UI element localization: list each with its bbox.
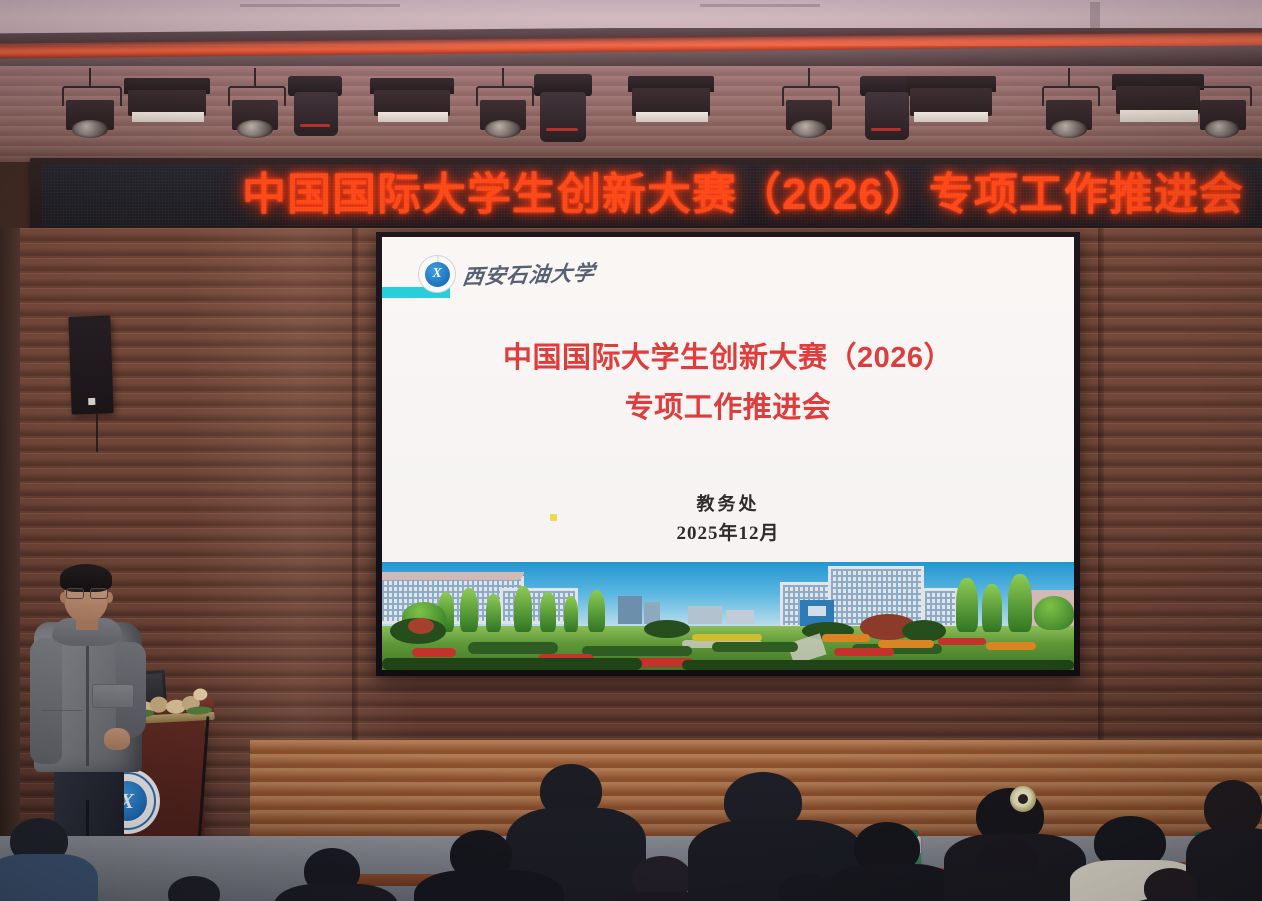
hair-scrunchie bbox=[1010, 786, 1036, 812]
slide-organization: 教务处 bbox=[382, 489, 1074, 519]
led-display-panel: 中国国际大学生创新大赛（2026）专项工作推进会 bbox=[42, 164, 1262, 226]
presentation-slide: X 西安石油大学 中国国际大学生创新大赛（2026） 专项工作推进会 教务处 2… bbox=[382, 237, 1074, 670]
eyeglasses-icon bbox=[66, 588, 108, 597]
university-name-text: 西安石油大学 bbox=[461, 257, 597, 292]
wall-speaker bbox=[68, 315, 113, 414]
slide-title: 中国国际大学生创新大赛（2026） 专项工作推进会 bbox=[382, 333, 1074, 433]
led-banner-text: 中国国际大学生创新大赛（2026）专项工作推进会 bbox=[242, 166, 1244, 224]
slide-title-line-2: 专项工作推进会 bbox=[382, 383, 1074, 433]
slide-cursor-dot bbox=[550, 514, 557, 521]
jacket-zipper bbox=[86, 640, 89, 766]
campus-panorama-photo bbox=[382, 562, 1074, 670]
university-emblem-icon: X bbox=[418, 255, 456, 293]
projection-screen: X 西安石油大学 中国国际大学生创新大赛（2026） 专项工作推进会 教务处 2… bbox=[382, 237, 1074, 670]
slide-university-logo: X 西安石油大学 bbox=[418, 255, 595, 293]
presenter-left-arm bbox=[30, 638, 62, 764]
wall-pillar-left bbox=[0, 228, 20, 848]
speaker-brand-logo bbox=[88, 398, 95, 405]
conference-hall-photo: 中国国际大学生创新大赛（2026）专项工作推进会 X 西安石油大学 中国国际大学… bbox=[0, 0, 1262, 901]
presenter-hand bbox=[104, 728, 130, 750]
led-banner-frame: 中国国际大学生创新大赛（2026）专项工作推进会 bbox=[30, 158, 1262, 234]
speaker-cable bbox=[96, 412, 98, 452]
slide-title-line-1: 中国国际大学生创新大赛（2026） bbox=[382, 333, 1074, 383]
slide-date: 2025年12月 bbox=[382, 519, 1074, 549]
jacket-pocket bbox=[92, 684, 134, 708]
